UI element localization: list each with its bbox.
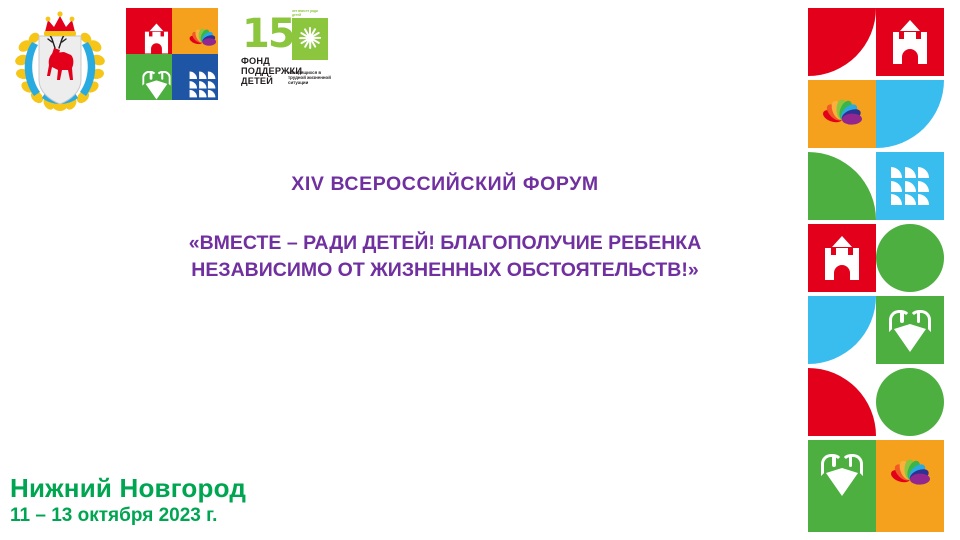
fund-anniversary-number: 15 bbox=[242, 14, 294, 54]
flower-icon bbox=[876, 440, 944, 508]
brand-tile-flower bbox=[172, 8, 218, 54]
forum-title-block: XIV ВСЕРОССИЙСКИЙ ФОРУМ «ВМЕСТЕ – РАДИ Д… bbox=[95, 172, 795, 284]
kremlin-tower-icon bbox=[876, 8, 944, 76]
brand-tile-deer bbox=[126, 54, 172, 100]
deer-icon bbox=[876, 296, 944, 364]
pattern-tile bbox=[808, 368, 876, 436]
kremlin-tower-icon bbox=[808, 224, 876, 292]
venue-city: Нижний Новгород bbox=[10, 473, 246, 503]
venue-block: Нижний Новгород 11 – 13 октября 2023 г. bbox=[10, 473, 246, 528]
pattern-tile bbox=[876, 224, 944, 292]
pattern-tile bbox=[808, 80, 876, 148]
forum-title: XIV ВСЕРОССИЙСКИЙ ФОРУМ bbox=[95, 172, 795, 196]
pattern-tile bbox=[876, 296, 944, 364]
fund-name-line-1: ФОНД bbox=[241, 56, 302, 66]
pattern-tile bbox=[876, 440, 944, 532]
forum-subtitle-line-2: НЕЗАВИСИМО ОТ ЖИЗНЕННЫХ ОБСТОЯТЕЛЬСТВ!» bbox=[95, 257, 795, 284]
venue-date: 11 – 13 октября 2023 г. bbox=[10, 504, 246, 528]
fund-tagline-small: лет вместе ради детей bbox=[292, 10, 326, 17]
window-grid-icon bbox=[876, 152, 944, 220]
coat-of-arms-icon bbox=[12, 8, 108, 116]
brand-tile-tower bbox=[126, 8, 172, 54]
pattern-tile bbox=[808, 440, 876, 532]
pattern-tile bbox=[808, 296, 876, 364]
logo-strip: лет вместе ради детей 15 ФОНД ПОДДЕРЖКИ … bbox=[0, 0, 790, 120]
pattern-tile bbox=[876, 8, 944, 76]
pattern-tile bbox=[808, 8, 876, 76]
children-support-fund-logo: лет вместе ради детей 15 ФОНД ПОДДЕРЖКИ … bbox=[240, 8, 332, 100]
window-grid-icon bbox=[179, 61, 210, 92]
sun-icon bbox=[299, 27, 321, 49]
flower-icon bbox=[179, 15, 210, 46]
forum-subtitle-line-1: «ВМЕСТЕ – РАДИ ДЕТЕЙ! БЛАГОПОЛУЧИЕ РЕБЕН… bbox=[95, 230, 795, 257]
forum-subtitle: «ВМЕСТЕ – РАДИ ДЕТЕЙ! БЛАГОПОЛУЧИЕ РЕБЕН… bbox=[95, 230, 795, 284]
deer-icon bbox=[808, 440, 876, 508]
nizhny-novgorod-brand-logo bbox=[126, 8, 218, 100]
fund-description: находящихся в трудной жизненной ситуации bbox=[288, 70, 332, 86]
flower-icon bbox=[808, 80, 876, 148]
fund-sun-block bbox=[292, 18, 328, 60]
kremlin-tower-icon bbox=[133, 15, 164, 46]
deer-icon bbox=[133, 61, 164, 92]
brand-tile-window-grid bbox=[172, 54, 218, 100]
decorative-pattern bbox=[800, 0, 960, 540]
pattern-tile bbox=[876, 152, 944, 220]
pattern-tile bbox=[808, 152, 876, 220]
pattern-tile bbox=[876, 368, 944, 436]
pattern-tile bbox=[876, 80, 944, 148]
pattern-tile bbox=[808, 224, 876, 292]
